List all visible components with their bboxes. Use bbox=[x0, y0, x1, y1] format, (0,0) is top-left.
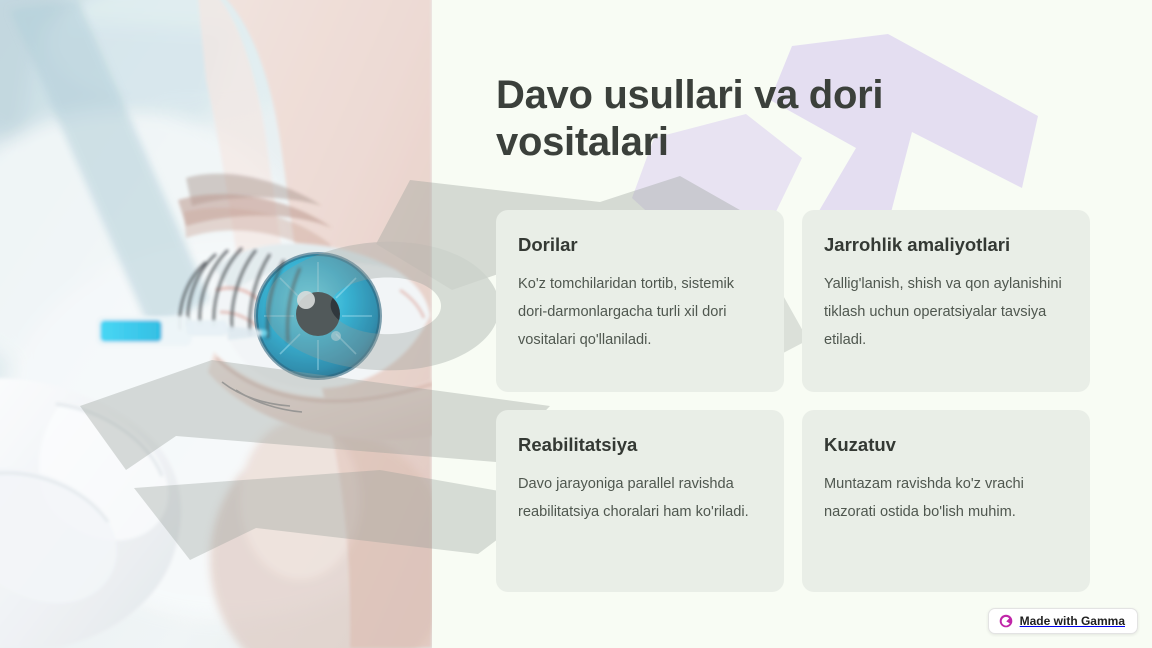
card-title: Jarrohlik amaliyotlari bbox=[824, 234, 1068, 256]
made-with-gamma-badge[interactable]: Made with Gamma bbox=[988, 608, 1138, 634]
slide-canvas: Davo usullari va dori vositalari Dorilar… bbox=[0, 0, 1152, 648]
card-title: Dorilar bbox=[518, 234, 762, 256]
card-title: Reabilitatsiya bbox=[518, 434, 762, 456]
card-kuzatuv[interactable]: Kuzatuv Muntazam ravishda ko'z vrachi na… bbox=[802, 410, 1090, 592]
card-reabilitatsiya[interactable]: Reabilitatsiya Davo jarayoniga parallel … bbox=[496, 410, 784, 592]
page-title: Davo usullari va dori vositalari bbox=[496, 72, 1026, 166]
card-body: Davo jarayoniga parallel ravishda reabil… bbox=[518, 470, 762, 526]
card-body: Ko'z tomchilaridan tortib, sistemik dori… bbox=[518, 270, 762, 354]
content-column: Davo usullari va dori vositalari Dorilar… bbox=[432, 0, 1152, 648]
card-grid: Dorilar Ko'z tomchilaridan tortib, siste… bbox=[496, 210, 1090, 592]
gamma-badge-label: Made with Gamma bbox=[1020, 614, 1125, 628]
gamma-logo-icon bbox=[999, 614, 1013, 628]
card-title: Kuzatuv bbox=[824, 434, 1068, 456]
eye-drops-closeup-photo bbox=[0, 0, 432, 648]
card-jarrohlik-amaliyotlari[interactable]: Jarrohlik amaliyotlari Yallig'lanish, sh… bbox=[802, 210, 1090, 392]
card-dorilar[interactable]: Dorilar Ko'z tomchilaridan tortib, siste… bbox=[496, 210, 784, 392]
card-body: Muntazam ravishda ko'z vrachi nazorati o… bbox=[824, 470, 1068, 526]
card-body: Yallig'lanish, shish va qon aylanishini … bbox=[824, 270, 1068, 354]
